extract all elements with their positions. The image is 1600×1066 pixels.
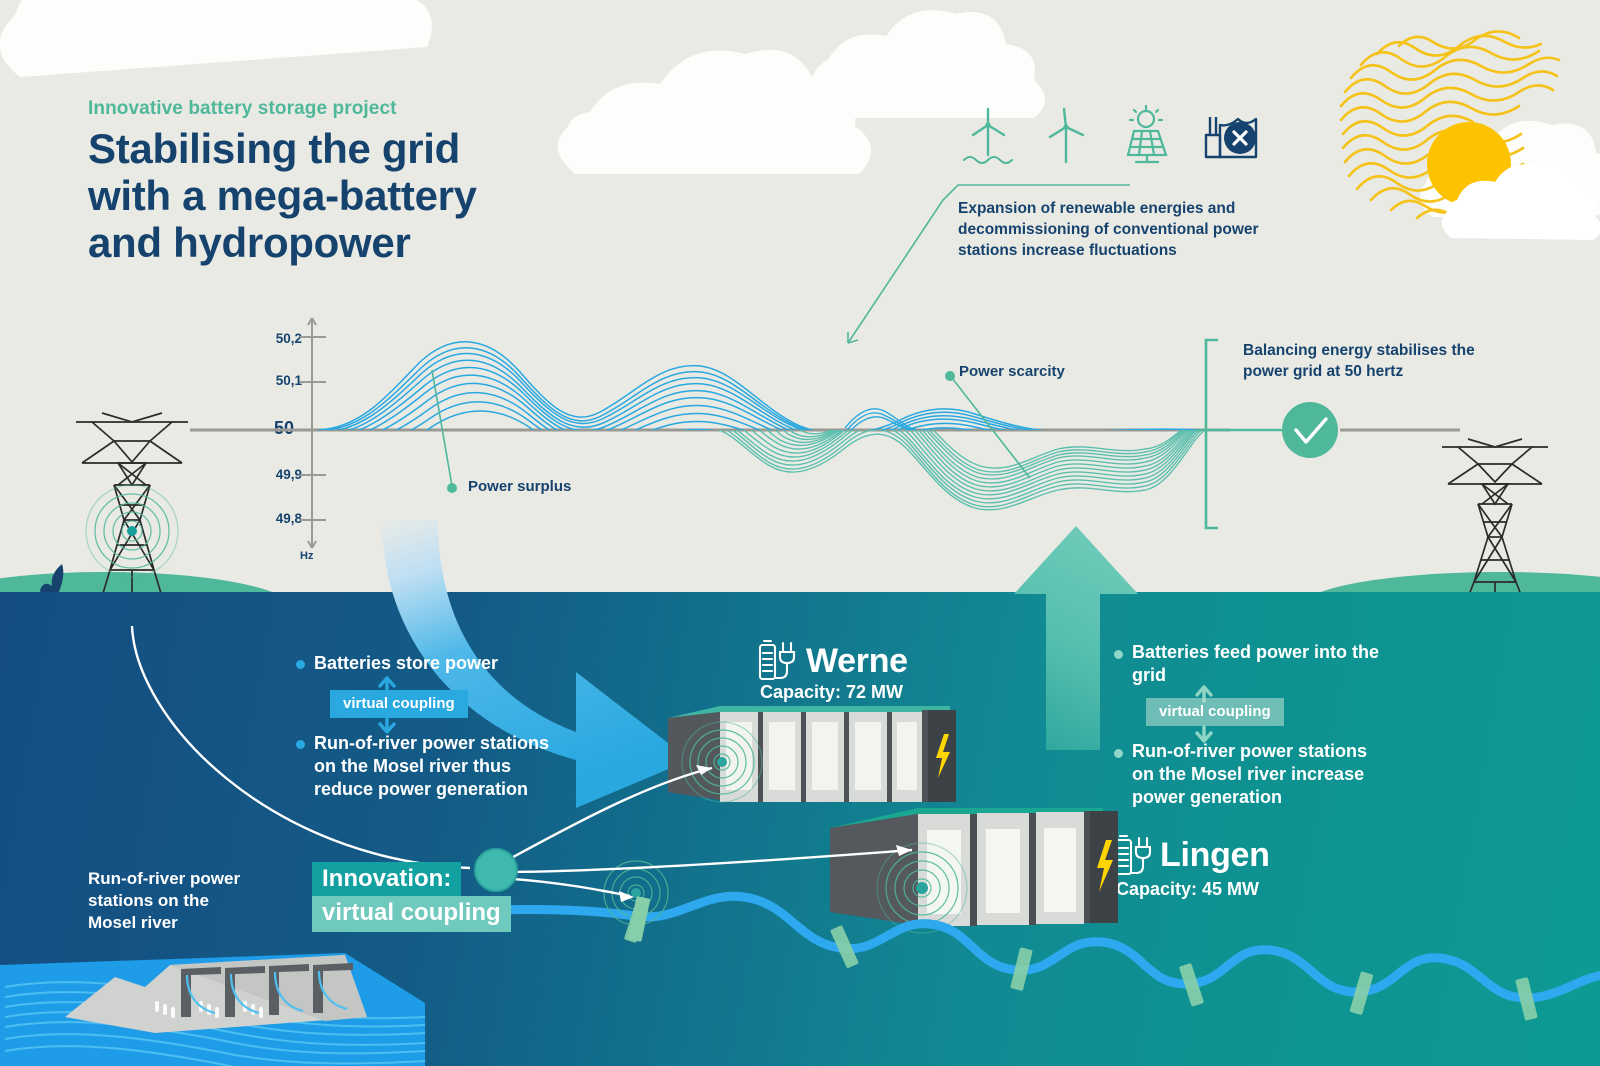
page-title: Stabilising the grid with a mega-battery… <box>88 125 477 266</box>
title-line-2: with a mega-battery <box>88 172 477 219</box>
annotation-power-scarcity: Power scarcity <box>959 363 1065 380</box>
chart-axis <box>300 318 326 548</box>
solar-panel-icon <box>1116 105 1176 167</box>
cloud-shape <box>805 10 1045 118</box>
virtual-coupling-hub[interactable] <box>466 840 526 900</box>
renewables-icon-row <box>960 105 1260 167</box>
decommissioned-power-station-icon <box>1198 105 1260 167</box>
eyebrow-label: Innovative battery storage project <box>88 98 397 120</box>
annotation-power-surplus: Power surplus <box>468 478 571 495</box>
offshore-wind-turbine-icon <box>960 105 1016 167</box>
innovation-label-2: virtual coupling <box>312 896 511 932</box>
check-circle-icon <box>1282 402 1338 458</box>
sun-cloud-icon <box>1443 138 1593 233</box>
sun-graphic <box>1325 30 1585 230</box>
cloud-shape <box>0 0 432 77</box>
title-line-1: Stabilising the grid <box>88 125 477 172</box>
title-line-3: and hydropower <box>88 219 477 266</box>
infographic-root: Innovative battery storage project Stabi… <box>0 0 1600 1066</box>
right-callout-text: Balancing energy stabilises the power gr… <box>1243 340 1493 382</box>
innovation-label-1: Innovation: <box>312 862 461 898</box>
coupling-connector-lines <box>0 560 1600 960</box>
top-callout-text: Expansion of renewable energies and deco… <box>958 198 1288 261</box>
onshore-wind-turbine-icon <box>1038 105 1094 167</box>
